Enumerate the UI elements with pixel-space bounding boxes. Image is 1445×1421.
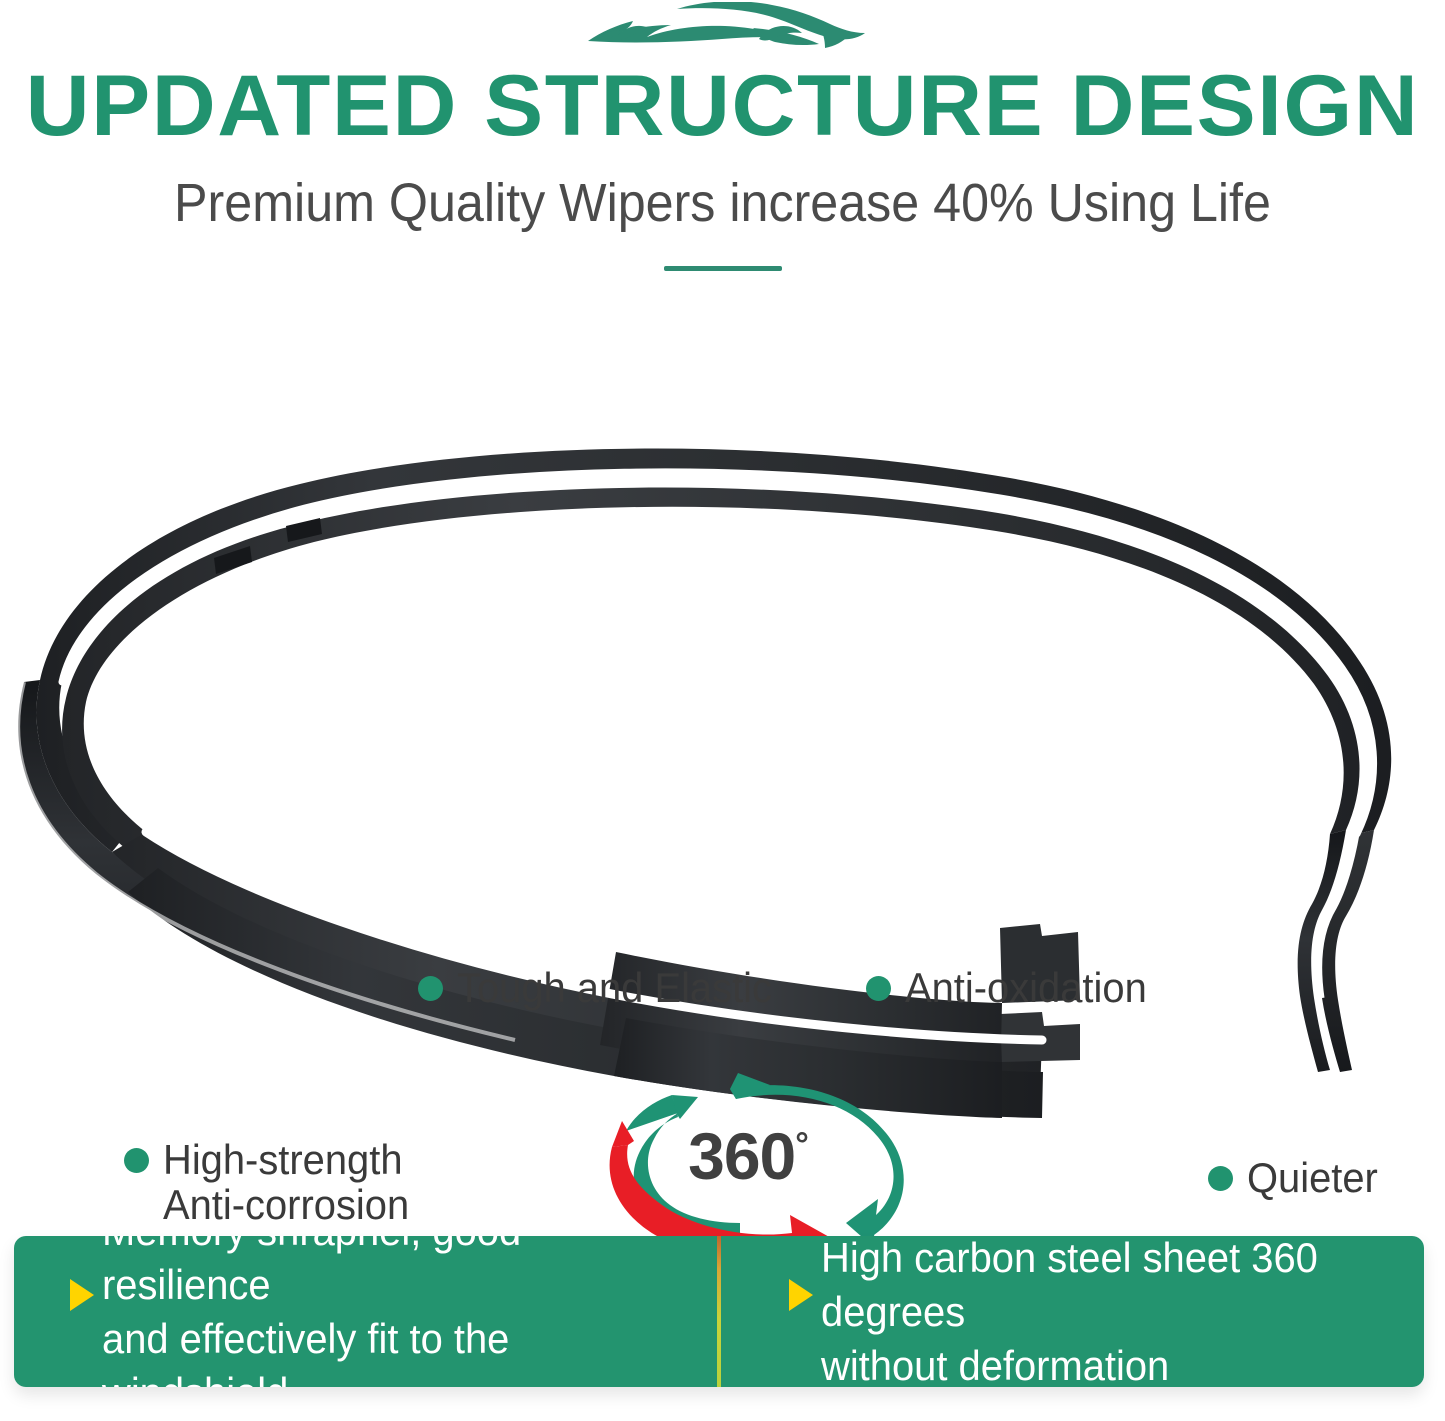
feature-callout-quieter: Quieter xyxy=(1208,1155,1385,1200)
banner-item-text: High carbon steel sheet 360 degrees with… xyxy=(821,1236,1394,1387)
car-silhouette-icon xyxy=(573,2,873,64)
feature-callout-anti-oxidation: Anti-oxidation xyxy=(866,965,1159,1010)
page-title: UPDATED STRUCTURE DESIGN xyxy=(0,60,1445,152)
bullet-dot-icon xyxy=(124,1148,149,1173)
bullet-dot-icon xyxy=(866,976,891,1001)
bullet-dot-icon xyxy=(1208,1166,1233,1191)
feature-callout-tough-and-elastic: Tough and Elastic xyxy=(418,965,789,1010)
badge-360-value: 360° xyxy=(578,1123,918,1189)
triangle-arrow-icon xyxy=(70,1279,94,1311)
car-logo xyxy=(0,2,1445,64)
feature-label: Quieter xyxy=(1247,1155,1378,1200)
feature-label: Anti-oxidation xyxy=(905,965,1147,1010)
header-divider-rule xyxy=(664,266,782,271)
feature-callout-high-strength-anti-corrosion: High-strength Anti-corrosion xyxy=(124,1137,422,1227)
infographic-page: UPDATED STRUCTURE DESIGN Premium Quality… xyxy=(0,0,1445,1421)
feature-label: High-strength Anti-corrosion xyxy=(163,1137,409,1227)
banner-item-left: Memory shrapnel, good resilience and eff… xyxy=(14,1236,717,1387)
banner-item-text: Memory shrapnel, good resilience and eff… xyxy=(102,1236,686,1387)
triangle-arrow-icon xyxy=(789,1279,813,1311)
bottom-feature-banner: Memory shrapnel, good resilience and eff… xyxy=(14,1236,1424,1387)
banner-item-right: High carbon steel sheet 360 degrees with… xyxy=(721,1236,1424,1387)
wiper-blade-graphic xyxy=(0,400,1445,1140)
wiper-strip-upper-band xyxy=(36,449,1391,852)
product-illustration: Tough and Elastic Anti-oxidation High-st… xyxy=(0,400,1445,1140)
page-subtitle: Premium Quality Wipers increase 40% Usin… xyxy=(51,172,1395,234)
feature-label: Tough and Elastic xyxy=(457,965,772,1010)
bullet-dot-icon xyxy=(418,976,443,1001)
